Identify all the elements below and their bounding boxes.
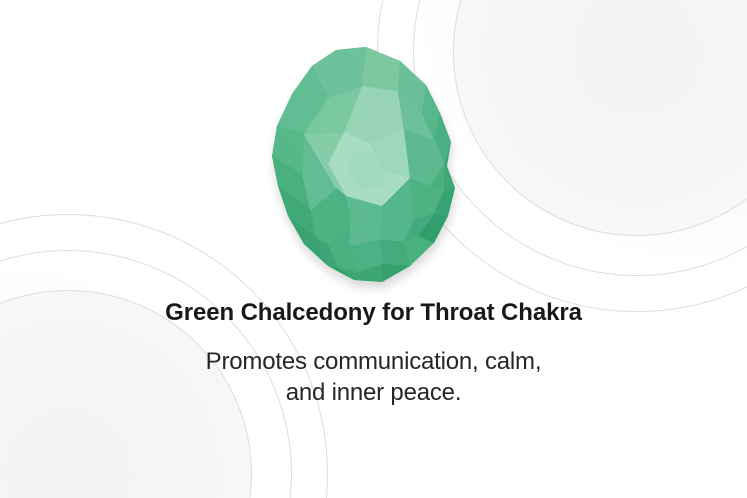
subtitle-line-2: and inner peace. bbox=[0, 377, 747, 408]
caption-block: Green Chalcedony for Throat Chakra Promo… bbox=[0, 298, 747, 408]
subtitle-line-1: Promotes communication, calm, bbox=[0, 346, 747, 377]
gemstone-icon bbox=[258, 38, 472, 290]
arc-inner-icon bbox=[453, 0, 747, 236]
page-subtitle: Promotes communication, calm, and inner … bbox=[0, 346, 747, 408]
gemstone-illustration bbox=[258, 38, 472, 290]
page-title: Green Chalcedony for Throat Chakra bbox=[0, 298, 747, 328]
gemstone-info-card: Green Chalcedony for Throat Chakra Promo… bbox=[0, 0, 747, 498]
